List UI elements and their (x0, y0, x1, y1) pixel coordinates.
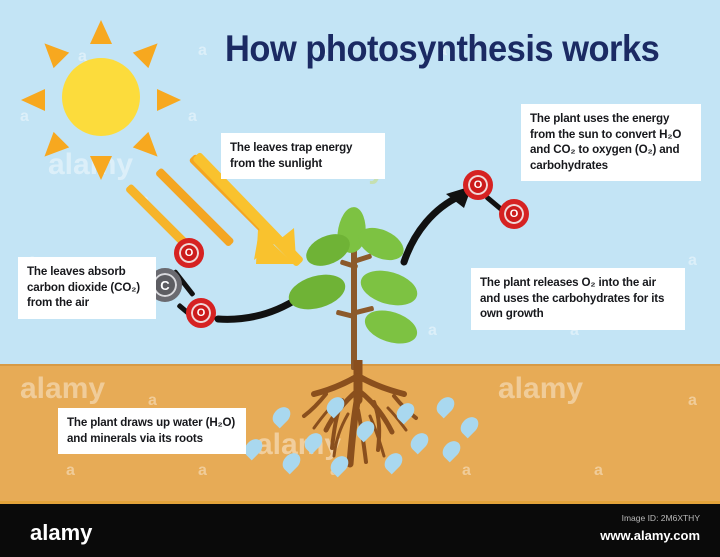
alamy-url[interactable]: www.alamy.com (600, 528, 700, 543)
sunlight-arrowhead-icon (250, 220, 310, 272)
sun-ray (90, 156, 112, 180)
callout-plant-draws-water: The plant draws up water (H₂O) and miner… (58, 408, 246, 454)
callout-plant-uses-energy: The plant uses the energy from the sun t… (521, 104, 701, 181)
page-title: How photosynthesis works (225, 28, 662, 70)
sun-icon (28, 26, 188, 186)
callout-plant-releases-o2: The plant releases O₂ into the air and u… (471, 268, 685, 330)
sun-ray (133, 36, 166, 69)
sun-ray (90, 20, 112, 44)
image-id-label: Image ID: 2M6XTHY (622, 513, 700, 523)
sun-ray (21, 89, 45, 111)
footer-bar: alamy Image ID: 2M6XTHY www.alamy.com (0, 501, 720, 557)
oxygen-atom: O (499, 199, 529, 229)
oxygen-atom: O (186, 298, 216, 328)
alamy-logo: alamy (30, 520, 92, 546)
sun-disc (62, 58, 140, 136)
sun-ray (37, 132, 70, 165)
sun-ray (157, 89, 181, 111)
callout-leaves-absorb-co2: The leaves absorb carbon dioxide (CO₂) f… (18, 257, 156, 319)
callout-leaves-trap-energy: The leaves trap energy from the sunlight (221, 133, 385, 179)
sun-ray (133, 132, 166, 165)
oxygen-atom: O (174, 238, 204, 268)
oxygen-atom: O (463, 170, 493, 200)
sun-ray (37, 36, 70, 69)
photosynthesis-diagram: alamy alamy alamy alamy alamy a a a a a … (0, 0, 720, 557)
